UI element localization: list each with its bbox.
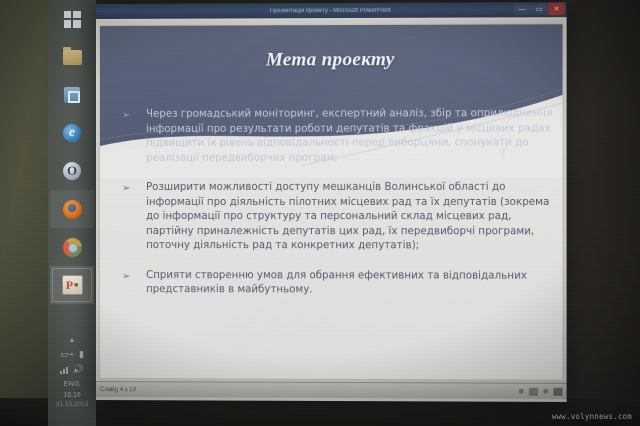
system-tray: ▲ ▭⌁ ▮ 🔊 ENG 16:16 31.10.2013 bbox=[48, 337, 96, 426]
powerpoint-statusbar: Слайд 4 з 13 bbox=[96, 381, 567, 399]
slide-bullet-text: Сприяти створенню умов для обрання ефект… bbox=[146, 269, 554, 299]
maximize-button[interactable]: ▭ bbox=[531, 3, 547, 15]
minimize-button[interactable]: — bbox=[514, 3, 530, 15]
taskbar-item-chrome[interactable] bbox=[50, 228, 94, 266]
slide-canvas: Мета проекту ➢ Через громадський монітор… bbox=[100, 24, 563, 380]
window-controls: — ▭ ✕ bbox=[514, 3, 565, 15]
volume-icon[interactable]: 🔊 bbox=[73, 365, 84, 374]
normal-view-button[interactable] bbox=[519, 389, 524, 394]
battery-icon[interactable]: ▮ bbox=[79, 350, 84, 359]
powerpoint-window: Презентація проекту - Microsoft PowerPoi… bbox=[96, 2, 567, 402]
edge-icon: e bbox=[63, 124, 81, 142]
slide-bullet-text: Через громадський моніторинг, експертний… bbox=[146, 107, 554, 166]
room-wall-right bbox=[560, 0, 640, 426]
slide-area: Мета проекту ➢ Через громадський монітор… bbox=[96, 21, 567, 383]
bullet-arrow-icon: ➢ bbox=[122, 269, 146, 285]
office-icon: O bbox=[63, 162, 81, 180]
slide-bullet-1: ➢ Через громадський моніторинг, експертн… bbox=[122, 107, 554, 166]
window-titlebar[interactable]: Презентація проекту - Microsoft PowerPoi… bbox=[96, 2, 567, 19]
powerpoint-icon: P■ bbox=[62, 275, 83, 295]
windows-taskbar: e O P■ ▲ ▭⌁ ▮ 🔊 ENG 16:16 31.10.2 bbox=[48, 0, 96, 426]
reading-view-button[interactable] bbox=[543, 389, 548, 394]
language-indicator[interactable]: ENG bbox=[64, 381, 81, 388]
room-wall-bottom bbox=[0, 398, 640, 426]
tray-row-network: ▭⌁ ▮ bbox=[60, 348, 84, 361]
bullet-arrow-icon: ➢ bbox=[122, 181, 146, 197]
taskbar-item-powerpoint[interactable]: P■ bbox=[50, 266, 94, 304]
bullet-arrow-icon: ➢ bbox=[122, 108, 146, 124]
taskbar-item-store[interactable] bbox=[50, 76, 94, 114]
firefox-icon bbox=[63, 200, 82, 219]
windows-logo-icon bbox=[64, 11, 81, 28]
clock-date[interactable]: 31.10.2013 bbox=[56, 401, 89, 408]
slideshow-view-button[interactable] bbox=[553, 387, 562, 395]
start-button[interactable] bbox=[50, 0, 94, 38]
room-wall-left bbox=[0, 0, 48, 426]
show-hidden-icons-button[interactable]: ▲ bbox=[69, 337, 76, 344]
screenshot-root: e O P■ ▲ ▭⌁ ▮ 🔊 ENG 16:16 31.10.2 bbox=[0, 0, 640, 426]
slide-body: ➢ Через громадський моніторинг, експертн… bbox=[122, 107, 554, 313]
slide-bullet-2: ➢ Розширити можливості доступу мешканців… bbox=[122, 181, 554, 254]
taskbar-item-office[interactable]: O bbox=[50, 152, 94, 190]
close-button[interactable]: ✕ bbox=[548, 3, 564, 15]
taskbar-item-firefox[interactable] bbox=[50, 190, 94, 228]
folder-icon bbox=[63, 50, 82, 65]
tray-row-audio: 🔊 bbox=[60, 363, 84, 376]
watermark: www.volynnews.com bbox=[552, 412, 632, 421]
signal-strength-icon[interactable] bbox=[60, 366, 68, 374]
taskbar-item-file-explorer[interactable] bbox=[50, 38, 94, 76]
store-icon bbox=[64, 87, 80, 103]
taskbar-item-edge[interactable]: e bbox=[50, 114, 94, 152]
view-buttons-group bbox=[519, 387, 563, 395]
sorter-view-button[interactable] bbox=[529, 387, 538, 395]
window-title: Презентація проекту - Microsoft PowerPoi… bbox=[270, 7, 391, 14]
clock-time[interactable]: 16:16 bbox=[63, 392, 81, 399]
chrome-icon bbox=[63, 238, 82, 257]
slide-title: Мета проекту bbox=[100, 48, 563, 72]
slide-bullet-3: ➢ Сприяти створенню умов для обрання ефе… bbox=[122, 269, 554, 299]
slide-counter: Слайд 4 з 13 bbox=[100, 387, 136, 393]
network-icon[interactable]: ▭⌁ bbox=[60, 350, 74, 359]
slide-bullet-text: Розширити можливості доступу мешканців В… bbox=[146, 181, 554, 254]
